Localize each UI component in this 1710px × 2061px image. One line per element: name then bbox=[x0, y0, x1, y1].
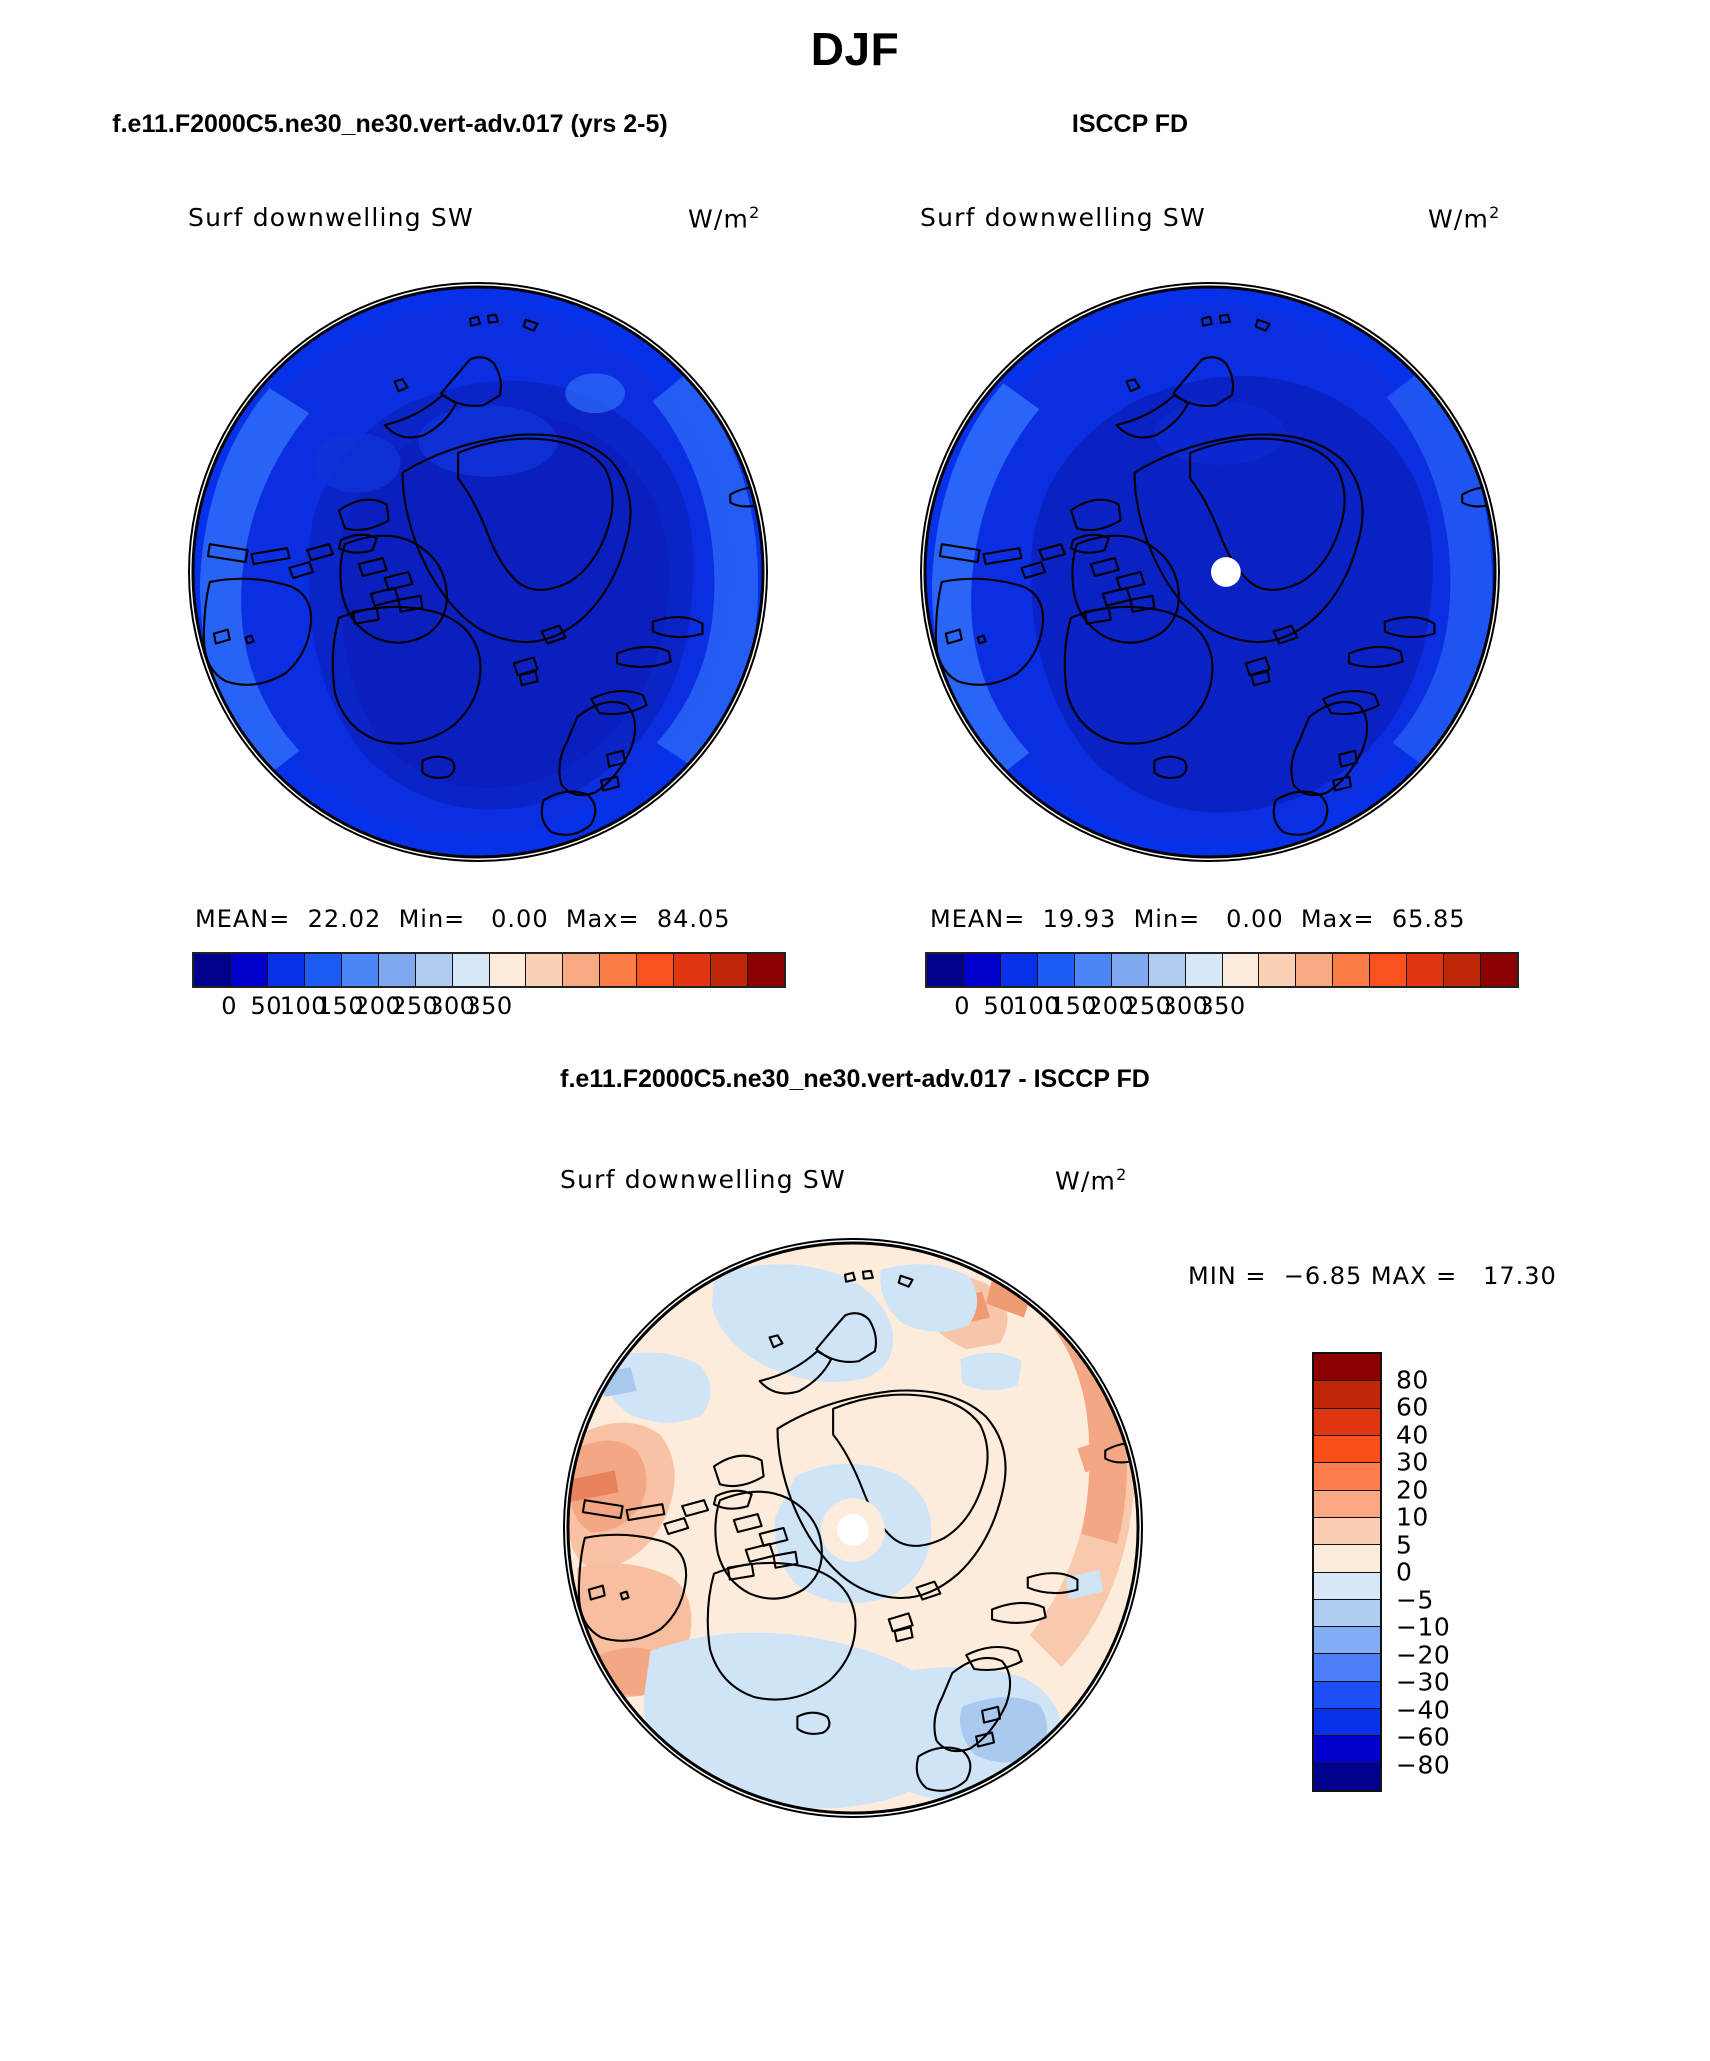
colorbar-cell bbox=[1314, 1764, 1380, 1790]
colorbar-cell bbox=[1444, 954, 1481, 986]
colorbar-tick-label: −30 bbox=[1396, 1668, 1450, 1697]
model-stats: MEAN= 22.02 Min= 0.00 Max= 84.05 bbox=[195, 905, 731, 933]
colorbar-cell bbox=[964, 954, 1001, 986]
obs-field-label: Surf downwelling SW bbox=[920, 203, 1206, 232]
colorbar-cell bbox=[1001, 954, 1038, 986]
diff-map-svg bbox=[565, 1240, 1141, 1816]
colorbar-cell bbox=[1259, 954, 1296, 986]
colorbar-cell bbox=[231, 954, 268, 986]
model-colorbar: 050100150200250300350 bbox=[192, 952, 786, 1024]
model-panel-title: f.e11.F2000C5.ne30_ne30.vert-adv.017 (yr… bbox=[60, 110, 720, 139]
obs-units-text: W/m bbox=[1428, 204, 1489, 233]
colorbar-tick-label: 5 bbox=[1396, 1530, 1412, 1559]
diff-field-label: Surf downwelling SW bbox=[560, 1165, 846, 1194]
colorbar-cell bbox=[1296, 954, 1333, 986]
colorbar-cell bbox=[1149, 954, 1186, 986]
diff-colorbar bbox=[1312, 1352, 1382, 1792]
colorbar-cell bbox=[637, 954, 674, 986]
model-units-text: W/m bbox=[688, 204, 749, 233]
colorbar-tick-label: 20 bbox=[1396, 1475, 1429, 1504]
colorbar-tick-label: 40 bbox=[1396, 1420, 1429, 1449]
colorbar-cell bbox=[1314, 1709, 1380, 1736]
colorbar-cell bbox=[600, 954, 637, 986]
model-colorbar-ticks: 050100150200250300350 bbox=[192, 988, 786, 1024]
colorbar-tick-label: 10 bbox=[1396, 1503, 1429, 1532]
colorbar-cell bbox=[1370, 954, 1407, 986]
colorbar-cell bbox=[1314, 1736, 1380, 1763]
model-polar-map bbox=[188, 282, 768, 862]
colorbar-cell bbox=[1223, 954, 1260, 986]
colorbar-tick-label: 0 bbox=[954, 992, 970, 1020]
colorbar-cell bbox=[1314, 1654, 1380, 1681]
colorbar-cell bbox=[1314, 1600, 1380, 1627]
colorbar-cell bbox=[305, 954, 342, 986]
colorbar-tick-label: 350 bbox=[1198, 992, 1245, 1020]
obs-stats: MEAN= 19.93 Min= 0.00 Max= 65.85 bbox=[930, 905, 1466, 933]
colorbar-tick-label: 0 bbox=[1396, 1558, 1412, 1587]
colorbar-cell bbox=[342, 954, 379, 986]
colorbar-tick-label: −10 bbox=[1396, 1613, 1450, 1642]
colorbar-cell bbox=[1075, 954, 1112, 986]
colorbar-tick-label: −60 bbox=[1396, 1723, 1450, 1752]
model-colorbar-cells bbox=[192, 952, 786, 988]
colorbar-tick-label: −80 bbox=[1396, 1750, 1450, 1779]
obs-colorbar-ticks: 050100150200250300350 bbox=[925, 988, 1519, 1024]
colorbar-cell bbox=[490, 954, 527, 986]
colorbar-tick-label: 350 bbox=[465, 992, 512, 1020]
obs-panel-title: ISCCP FD bbox=[880, 110, 1380, 139]
colorbar-tick-label: 0 bbox=[221, 992, 237, 1020]
diff-panel-title: f.e11.F2000C5.ne30_ne30.vert-adv.017 - I… bbox=[0, 1065, 1710, 1094]
obs-map-svg bbox=[922, 284, 1498, 860]
diff-colorbar-ticks: 80604030201050−5−10−20−30−40−60−80 bbox=[1396, 1352, 1516, 1792]
colorbar-cell bbox=[1314, 1354, 1380, 1381]
colorbar-cell bbox=[1314, 1491, 1380, 1518]
model-field-label: Surf downwelling SW bbox=[188, 203, 474, 232]
colorbar-cell bbox=[1314, 1627, 1380, 1654]
obs-units-label: W/m2 bbox=[1428, 203, 1501, 233]
diff-minmax: MIN = −6.85 MAX = 17.30 bbox=[1188, 1262, 1557, 1290]
colorbar-tick-label: 50 bbox=[250, 992, 282, 1020]
colorbar-cell bbox=[1314, 1518, 1380, 1545]
colorbar-cell bbox=[1112, 954, 1149, 986]
colorbar-cell bbox=[1314, 1381, 1380, 1408]
colorbar-cell bbox=[526, 954, 563, 986]
diff-units-exponent: 2 bbox=[1116, 1165, 1127, 1184]
colorbar-cell bbox=[711, 954, 748, 986]
obs-colorbar-cells bbox=[925, 952, 1519, 988]
diff-units-text: W/m bbox=[1055, 1166, 1116, 1195]
colorbar-cell bbox=[194, 954, 231, 986]
obs-units-exponent: 2 bbox=[1489, 203, 1500, 222]
colorbar-tick-label: −5 bbox=[1396, 1585, 1434, 1614]
colorbar-tick-label: 50 bbox=[983, 992, 1015, 1020]
obs-polar-map bbox=[920, 282, 1500, 862]
colorbar-cell bbox=[1186, 954, 1223, 986]
colorbar-cell bbox=[1314, 1682, 1380, 1709]
season-title: DJF bbox=[0, 22, 1710, 76]
colorbar-tick-label: 30 bbox=[1396, 1448, 1429, 1477]
colorbar-cell bbox=[1407, 954, 1444, 986]
diff-colorbar-cells bbox=[1312, 1352, 1382, 1792]
colorbar-cell bbox=[1314, 1463, 1380, 1490]
colorbar-cell bbox=[748, 954, 784, 986]
colorbar-cell bbox=[1314, 1545, 1380, 1572]
colorbar-cell bbox=[1333, 954, 1370, 986]
colorbar-cell bbox=[927, 954, 964, 986]
colorbar-cell bbox=[1314, 1573, 1380, 1600]
pole-hole bbox=[1211, 557, 1241, 587]
colorbar-tick-label: −20 bbox=[1396, 1640, 1450, 1669]
model-units-label: W/m2 bbox=[688, 203, 761, 233]
colorbar-cell bbox=[563, 954, 600, 986]
colorbar-cell bbox=[268, 954, 305, 986]
model-map-svg bbox=[190, 284, 766, 860]
obs-colorbar: 050100150200250300350 bbox=[925, 952, 1519, 1024]
model-units-exponent: 2 bbox=[749, 203, 760, 222]
colorbar-cell bbox=[1481, 954, 1517, 986]
colorbar-cell bbox=[453, 954, 490, 986]
colorbar-cell bbox=[416, 954, 453, 986]
colorbar-cell bbox=[1314, 1409, 1380, 1436]
pole-hole bbox=[837, 1514, 869, 1546]
diff-units-label: W/m2 bbox=[1055, 1165, 1128, 1195]
colorbar-tick-label: 60 bbox=[1396, 1393, 1429, 1422]
colorbar-cell bbox=[1038, 954, 1075, 986]
colorbar-cell bbox=[1314, 1436, 1380, 1463]
colorbar-cell bbox=[674, 954, 711, 986]
colorbar-tick-label: 80 bbox=[1396, 1365, 1429, 1394]
diff-polar-map bbox=[563, 1238, 1143, 1818]
colorbar-tick-label: −40 bbox=[1396, 1695, 1450, 1724]
colorbar-cell bbox=[379, 954, 416, 986]
